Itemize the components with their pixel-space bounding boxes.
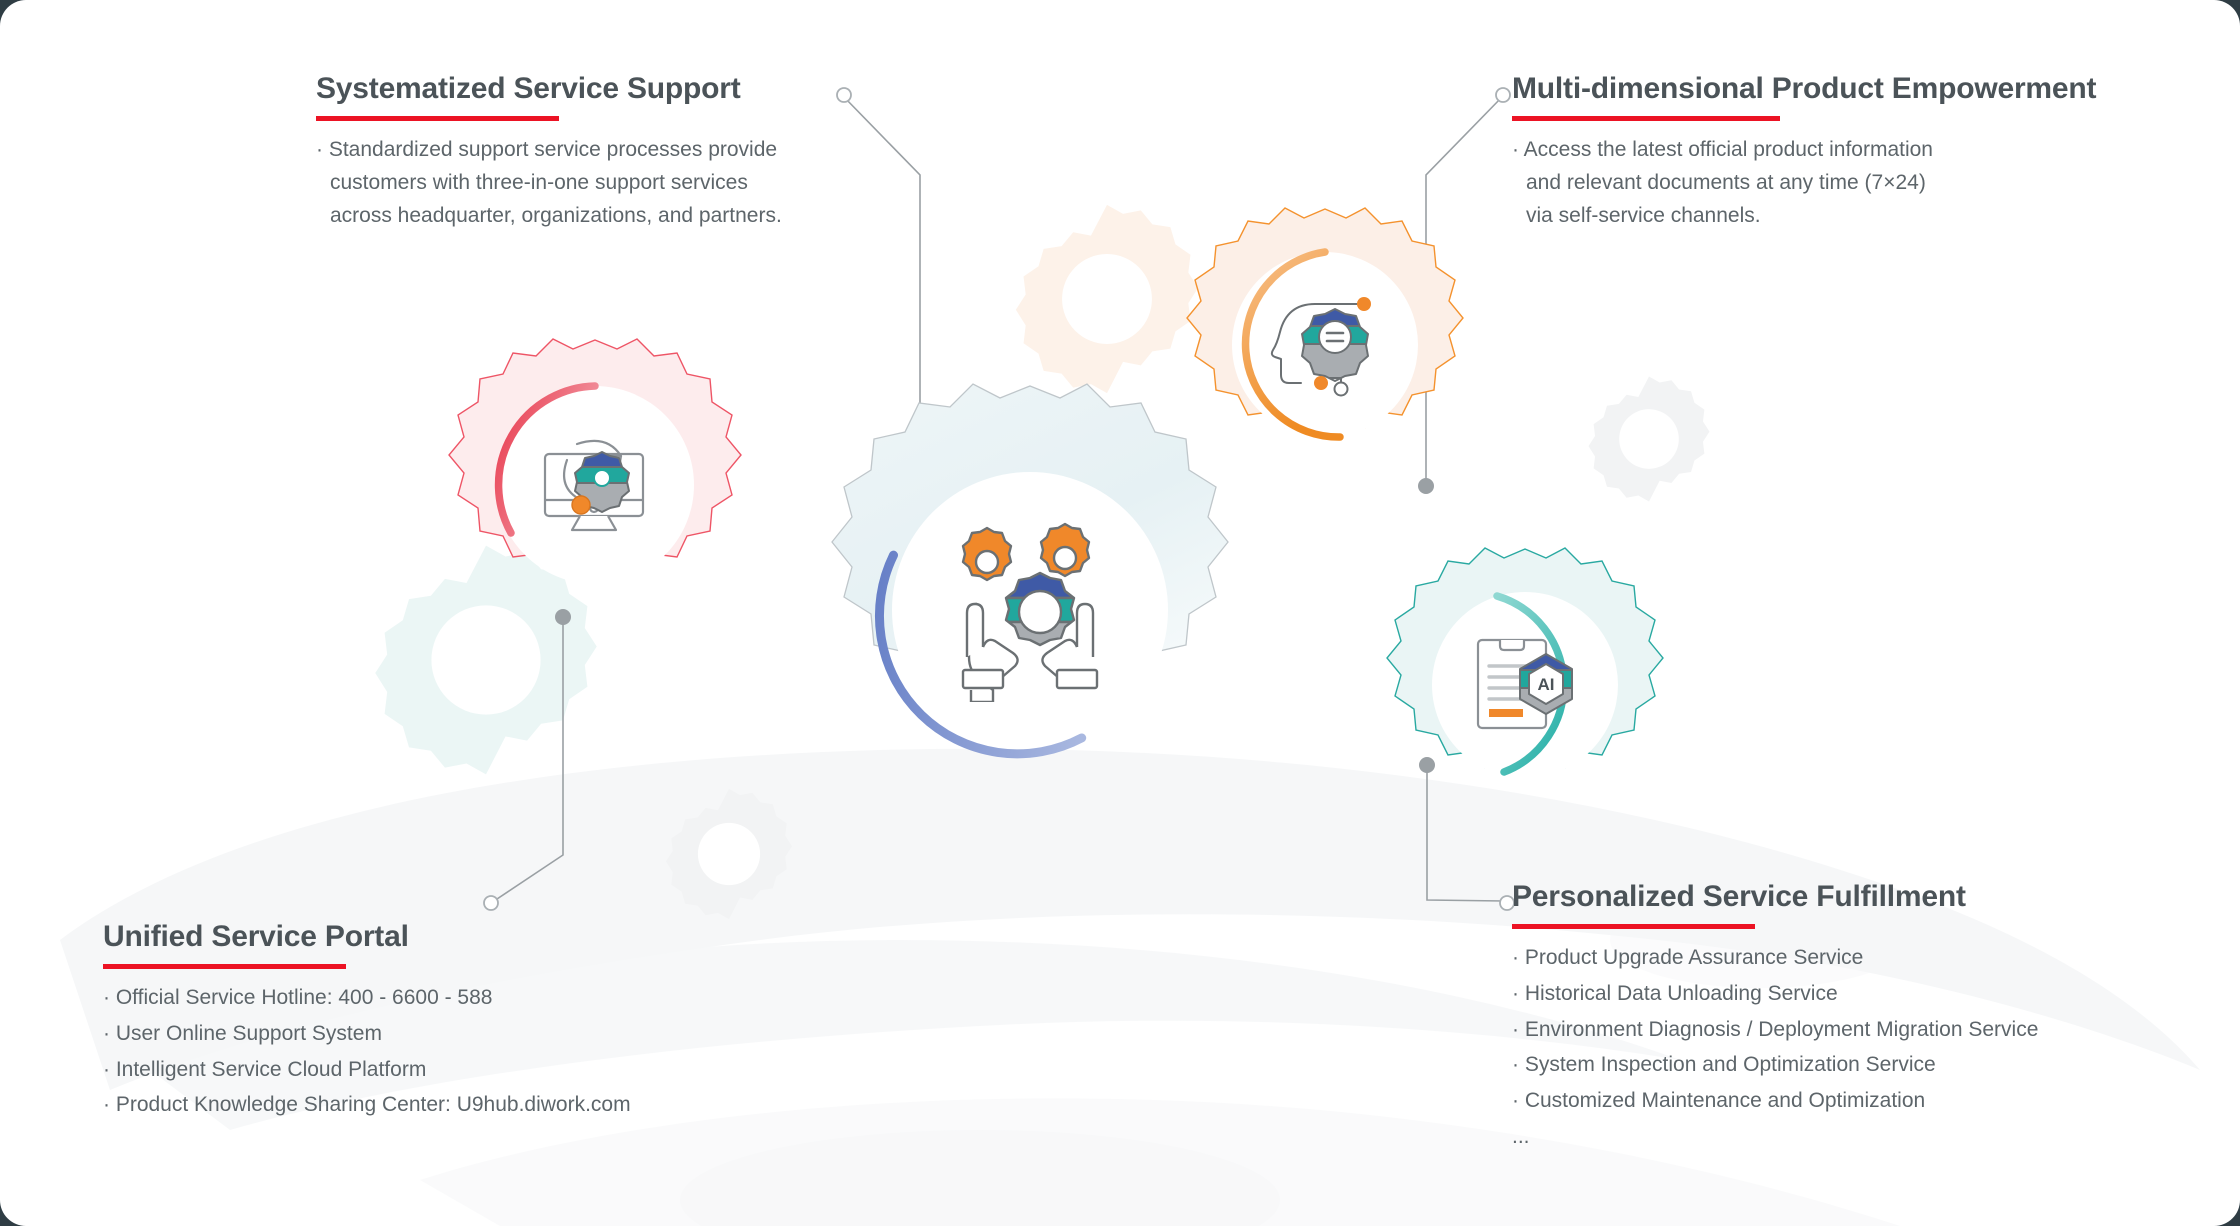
infographic-slide: AI Systematized Service Support · Standa… bbox=[0, 0, 2240, 1226]
block-personalized-service-fulfillment: Personalized Service Fulfillment · Produ… bbox=[1512, 880, 2038, 1161]
hands-holding-gear-icon bbox=[945, 520, 1115, 702]
block-title: Multi-dimensional Product Empowerment bbox=[1512, 72, 2096, 105]
block-multi-dimensional-product-empowerment: Multi-dimensional Product Empowerment · … bbox=[1512, 72, 2096, 236]
block-line: via self-service channels. bbox=[1512, 204, 2096, 229]
block-unified-service-portal: Unified Service Portal · Official Servic… bbox=[103, 920, 631, 1129]
block-line: and relevant documents at any time (7×24… bbox=[1512, 171, 2096, 196]
block-title: Systematized Service Support bbox=[316, 72, 782, 105]
block-line: · Customized Maintenance and Optimizatio… bbox=[1512, 1089, 2038, 1114]
connector-endpoint-multidim bbox=[1496, 88, 1510, 102]
block-line: · Product Knowledge Sharing Center: U9hu… bbox=[103, 1093, 631, 1118]
block-title: Unified Service Portal bbox=[103, 920, 631, 953]
block-line: customers with three-in-one support serv… bbox=[316, 171, 782, 196]
svg-text:AI: AI bbox=[1538, 675, 1555, 694]
decorative-gear-gray-left bbox=[655, 780, 803, 928]
block-title: Personalized Service Fulfillment bbox=[1512, 880, 2038, 913]
monitor-gear-refresh-icon bbox=[533, 430, 658, 540]
block-line: · User Online Support System bbox=[103, 1022, 631, 1047]
block-line: · Historical Data Unloading Service bbox=[1512, 982, 2038, 1007]
block-line: · Environment Diagnosis / Deployment Mig… bbox=[1512, 1018, 2038, 1043]
connector-endpoint-systematized bbox=[837, 88, 851, 102]
connector-endpoint-unified bbox=[484, 896, 498, 910]
block-line: · Intelligent Service Cloud Platform bbox=[103, 1058, 631, 1083]
service-fulfillment-node[interactable]: AI bbox=[1380, 540, 1670, 830]
block-systematized-service-support: Systematized Service Support · Standardi… bbox=[316, 72, 782, 236]
block-line: · System Inspection and Optimization Ser… bbox=[1512, 1053, 2038, 1078]
title-underline bbox=[1512, 116, 1780, 121]
title-underline bbox=[316, 116, 559, 121]
decorative-gear-gray-right bbox=[1578, 368, 1720, 510]
service-support-node[interactable] bbox=[440, 330, 750, 640]
block-line: · Access the latest official product inf… bbox=[1512, 138, 2096, 163]
product-empowerment-node[interactable] bbox=[1180, 200, 1470, 490]
title-underline bbox=[1512, 924, 1755, 929]
block-line: ... bbox=[1512, 1125, 2038, 1150]
gear-hands-node[interactable] bbox=[820, 370, 1240, 850]
connector-unified bbox=[494, 617, 563, 901]
block-line: · Official Service Hotline: 400 - 6600 -… bbox=[103, 986, 631, 1011]
block-line: · Product Upgrade Assurance Service bbox=[1512, 946, 2038, 971]
document-ai-badge-icon: AI bbox=[1468, 632, 1583, 737]
head-gear-ai-icon bbox=[1265, 290, 1385, 400]
title-underline bbox=[103, 964, 346, 969]
block-line: across headquarter, organizations, and p… bbox=[316, 204, 782, 229]
block-line: · Standardized support service processes… bbox=[316, 138, 782, 163]
